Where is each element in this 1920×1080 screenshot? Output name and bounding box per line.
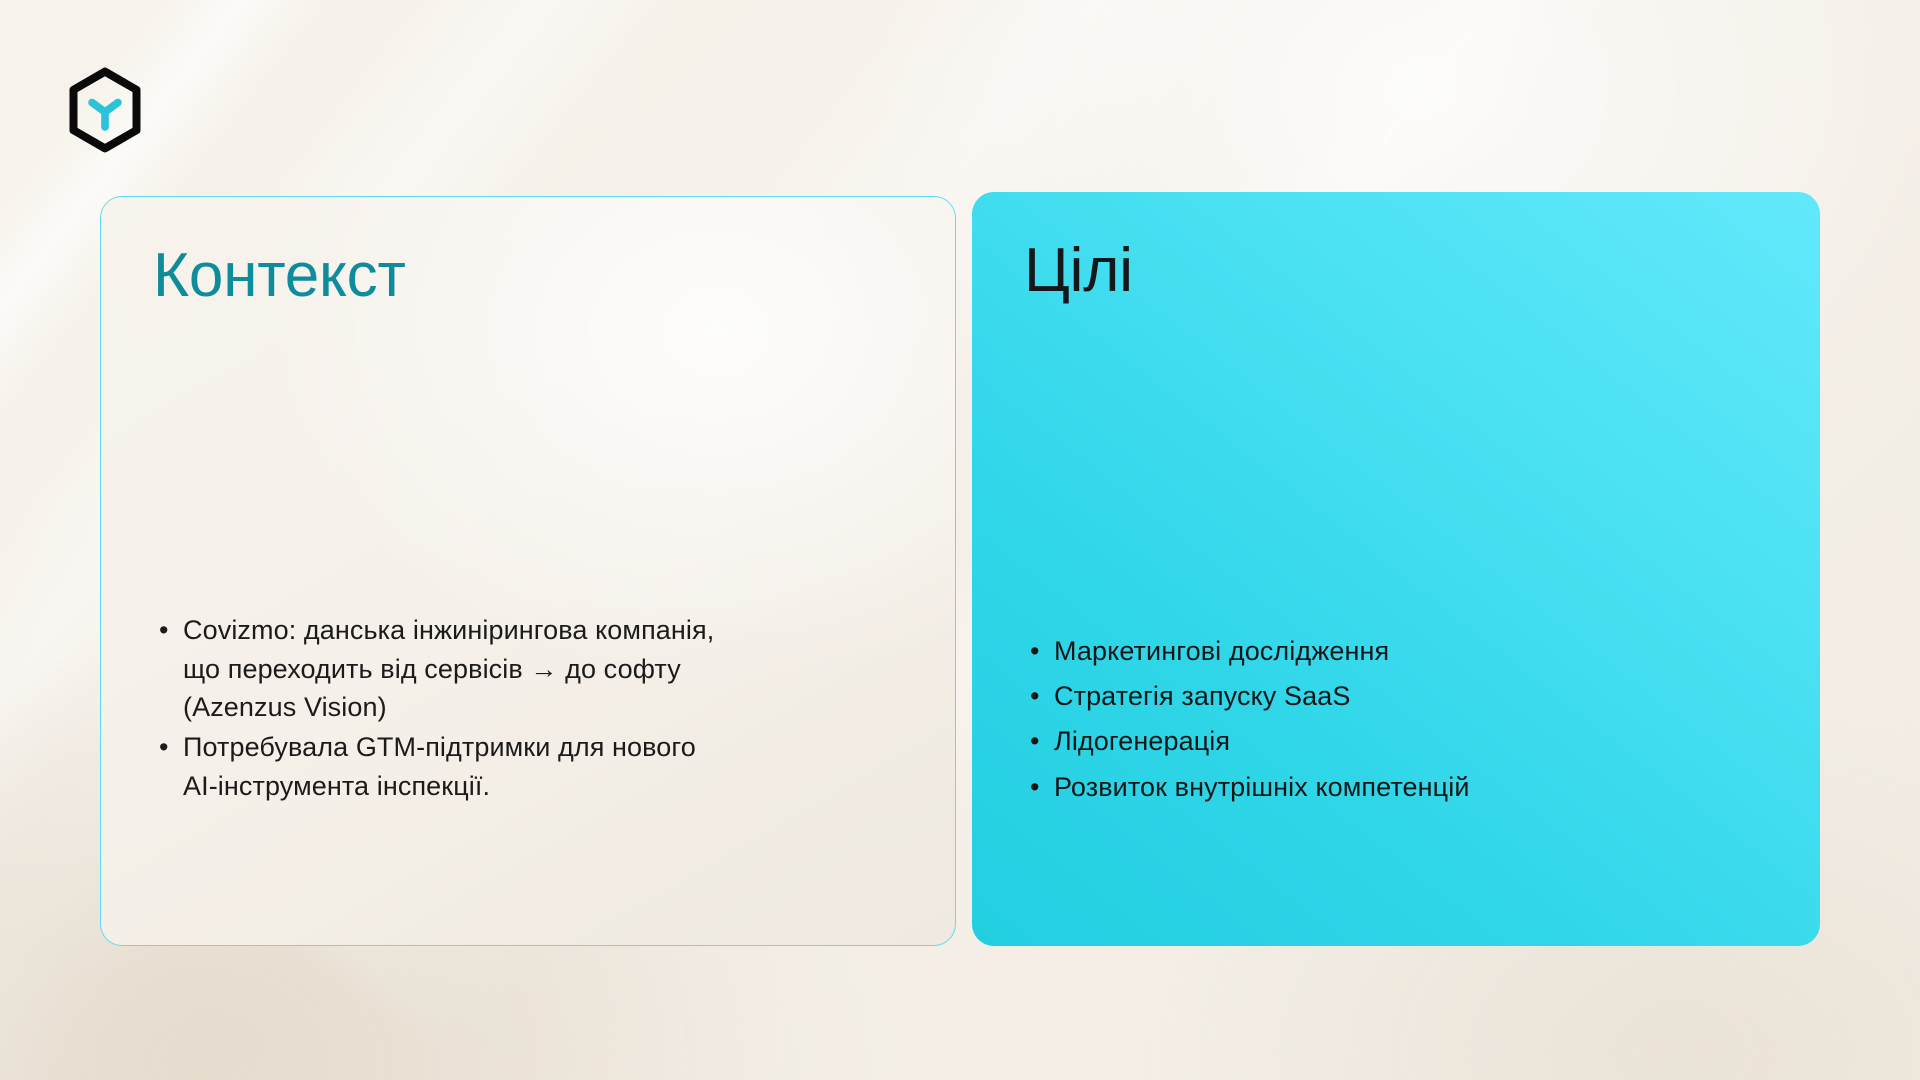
- bullet-glyph: •: [153, 728, 183, 766]
- bullet-glyph: •: [1024, 768, 1054, 806]
- goals-card-title: Цілі: [1024, 238, 1768, 303]
- bullet-glyph: •: [153, 611, 183, 649]
- list-item: • Лідогенерація: [1024, 722, 1768, 760]
- list-item: • Розвиток внутрішніх компетенцій: [1024, 768, 1768, 806]
- list-item-text: Covizmo: данська інжинірингова компанія,…: [183, 611, 903, 726]
- list-item-text: Потребувала GTM-підтримки для нового AI-…: [183, 728, 903, 805]
- hexagon-y-logo-icon: [62, 67, 148, 153]
- list-item-text: Розвиток внутрішніх компетенцій: [1054, 768, 1768, 806]
- list-item: • Потребувала GTM-підтримки для нового A…: [153, 728, 903, 805]
- list-item-text: Стратегія запуску SaaS: [1054, 677, 1768, 715]
- list-item-text: Маркетингові дослідження: [1054, 632, 1768, 670]
- context-card: Контекст • Covizmo: данська інжинірингов…: [100, 196, 956, 946]
- bullet-glyph: •: [1024, 722, 1054, 760]
- list-item-text: Лідогенерація: [1054, 722, 1768, 760]
- bullet-glyph: •: [1024, 632, 1054, 670]
- context-card-title: Контекст: [153, 243, 903, 308]
- context-bullet-list: • Covizmo: данська інжинірингова компані…: [153, 611, 903, 805]
- goals-card: Цілі • Маркетингові дослідження • Страте…: [972, 192, 1820, 946]
- goals-bullet-list: • Маркетингові дослідження • Стратегія з…: [1024, 632, 1768, 806]
- bullet-glyph: •: [1024, 677, 1054, 715]
- list-item: • Covizmo: данська інжинірингова компані…: [153, 611, 903, 726]
- list-item: • Маркетингові дослідження: [1024, 632, 1768, 670]
- list-item: • Стратегія запуску SaaS: [1024, 677, 1768, 715]
